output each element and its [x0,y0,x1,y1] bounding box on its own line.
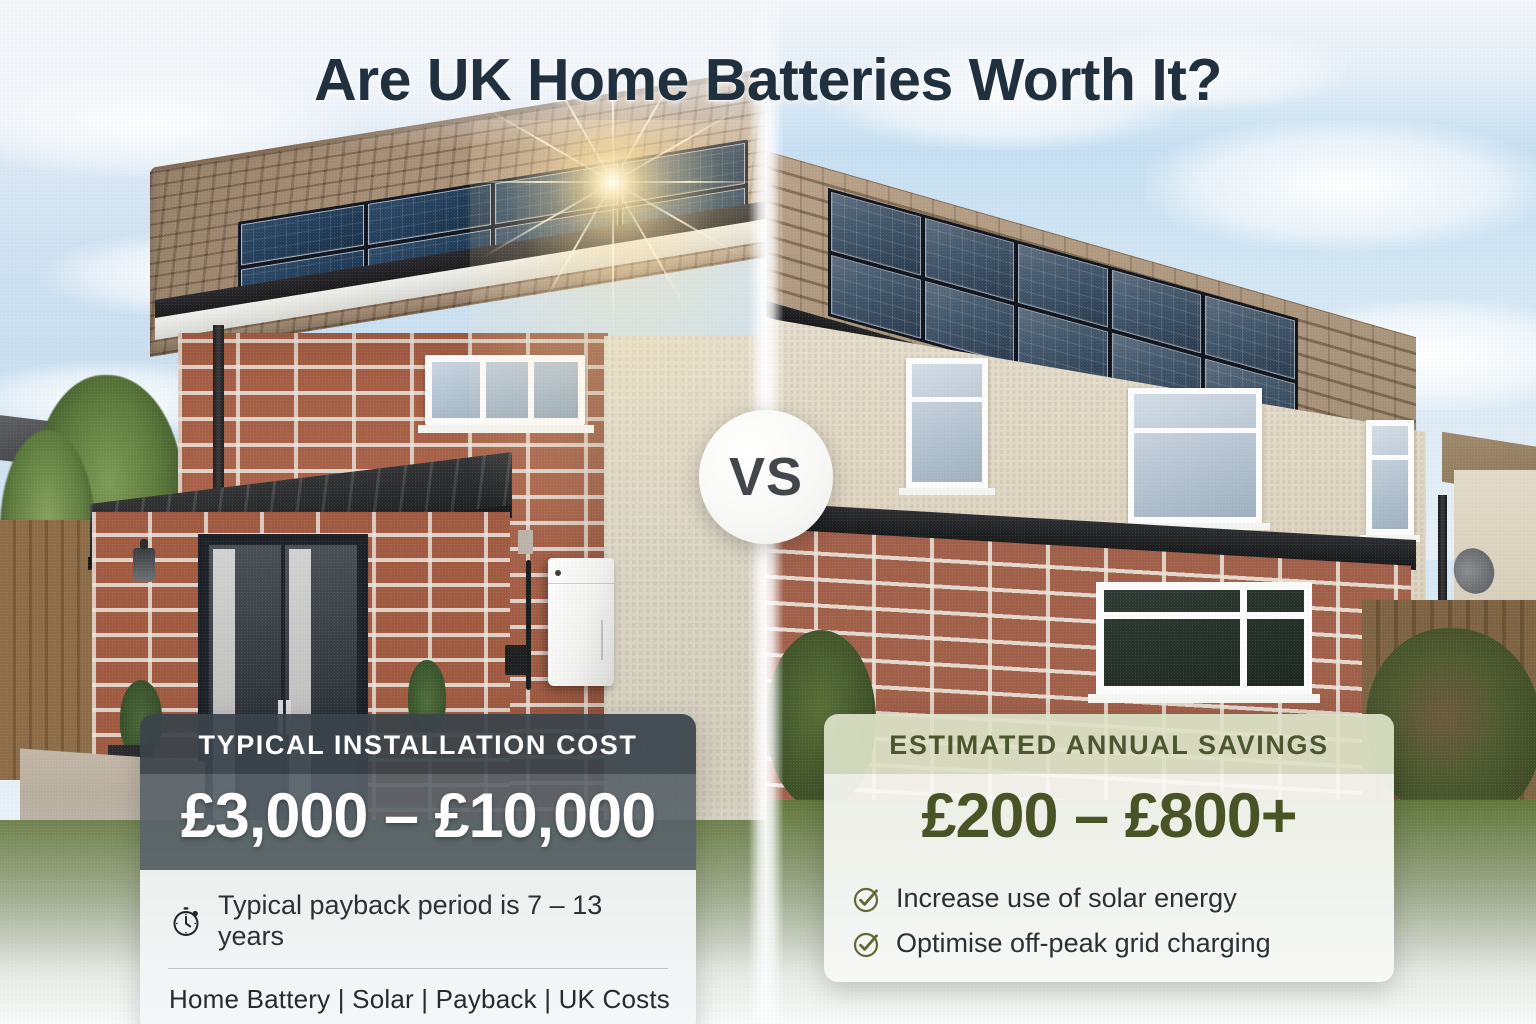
versus-badge-label: VS [729,446,803,508]
battery-status-light [555,570,561,576]
window-sill [899,488,995,495]
stopwatch-icon [169,904,203,938]
versus-badge: VS [699,410,833,544]
benefit-text: Increase use of solar energy [896,883,1237,914]
installation-cost-details: Typical payback period is 7 – 13 years H… [140,870,696,1024]
installation-cost-card: TYPICAL INSTALLATION COST £3,000 – £10,0… [140,714,696,1024]
upper-window [906,358,988,488]
window-sill [1088,694,1320,703]
annual-savings-benefits: Increase use of solar energy Optimise of… [824,870,1394,982]
left-card-tagline: Home Battery | Solar | Payback | UK Cost… [164,969,672,1018]
payback-text: Typical payback period is 7 – 13 years [218,890,672,952]
benefit-item: Optimise off-peak grid charging [848,921,1370,966]
payback-row: Typical payback period is 7 – 13 years [164,888,672,968]
extension-window [1096,582,1312,694]
cloud [1146,120,1536,250]
upper-window [425,355,585,425]
check-circle-icon [852,884,882,914]
wall-lantern [133,548,155,582]
upper-window [1128,388,1262,523]
check-circle-icon [852,929,882,959]
annual-savings-value: £200 – £800+ [824,774,1394,870]
home-battery-unit [548,558,614,686]
upper-window [1366,420,1414,535]
benefit-text: Optimise off-peak grid charging [896,928,1271,959]
annual-savings-card: ESTIMATED ANNUAL SAVINGS £200 – £800+ In… [824,714,1394,982]
meter-box [518,530,533,554]
installation-cost-heading: TYPICAL INSTALLATION COST [140,714,696,774]
battery-isolator-box [505,645,527,675]
annual-savings-heading: ESTIMATED ANNUAL SAVINGS [824,714,1394,774]
window-sill [418,425,594,433]
installation-cost-value: £3,000 – £10,000 [140,774,696,870]
benefit-item: Increase use of solar energy [848,876,1370,921]
infographic-canvas: Are UK Home Batteries Worth It? VS TYPIC… [0,0,1536,1024]
page-title: Are UK Home Batteries Worth It? [0,46,1536,114]
